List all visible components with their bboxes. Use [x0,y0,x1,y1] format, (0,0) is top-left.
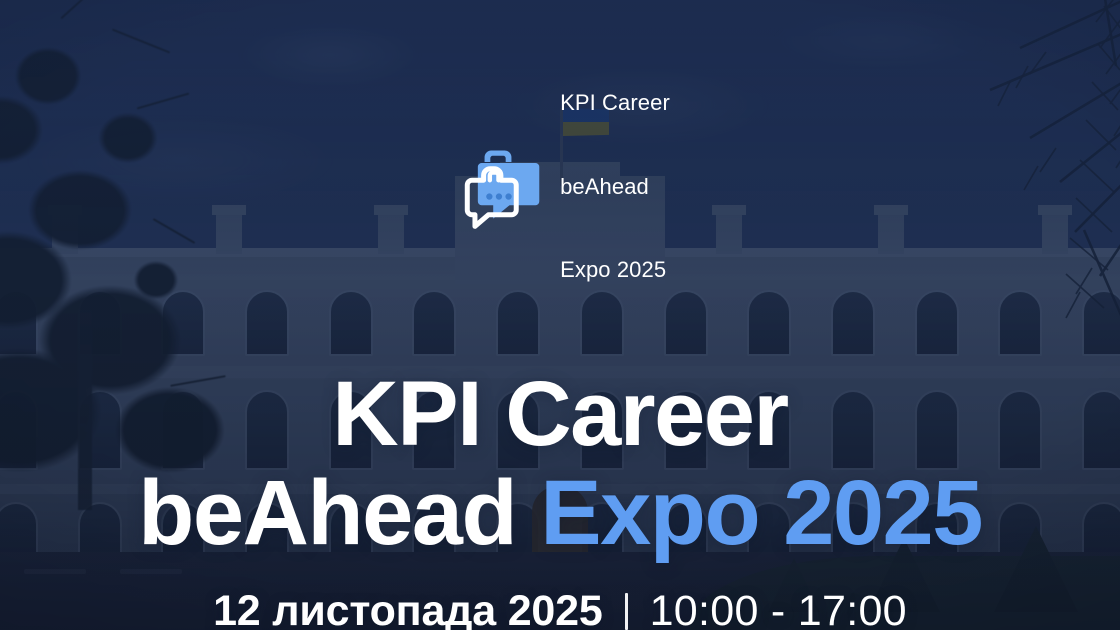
datetime-separator [625,593,628,630]
logo-line-3: Expo 2025 [560,256,670,284]
event-headline: KPI Career beAhead Expo 2025 [138,365,982,564]
headline-line-1: KPI Career [138,365,982,464]
headline-accent: Expo 2025 [540,462,982,564]
event-banner: KPI Career beAhead Expo 2025 KPI Career … [0,0,1120,630]
logo-line-1: KPI Career [560,89,670,117]
logo-lockup: KPI Career beAhead Expo 2025 [450,34,670,339]
briefcase-chat-bubble-logo-icon [450,138,546,234]
event-datetime: 12 листопада 2025 10:00 - 17:00 [213,590,907,630]
banner-content: KPI Career beAhead Expo 2025 KPI Career … [0,0,1120,630]
event-time: 10:00 - 17:00 [650,590,907,630]
headline-line-2: beAhead Expo 2025 [138,464,982,563]
logo-wordmark: KPI Career beAhead Expo 2025 [560,34,670,339]
event-date: 12 листопада 2025 [213,590,603,630]
logo-line-2: beAhead [560,173,670,201]
headline-brand: beAhead [138,462,540,564]
